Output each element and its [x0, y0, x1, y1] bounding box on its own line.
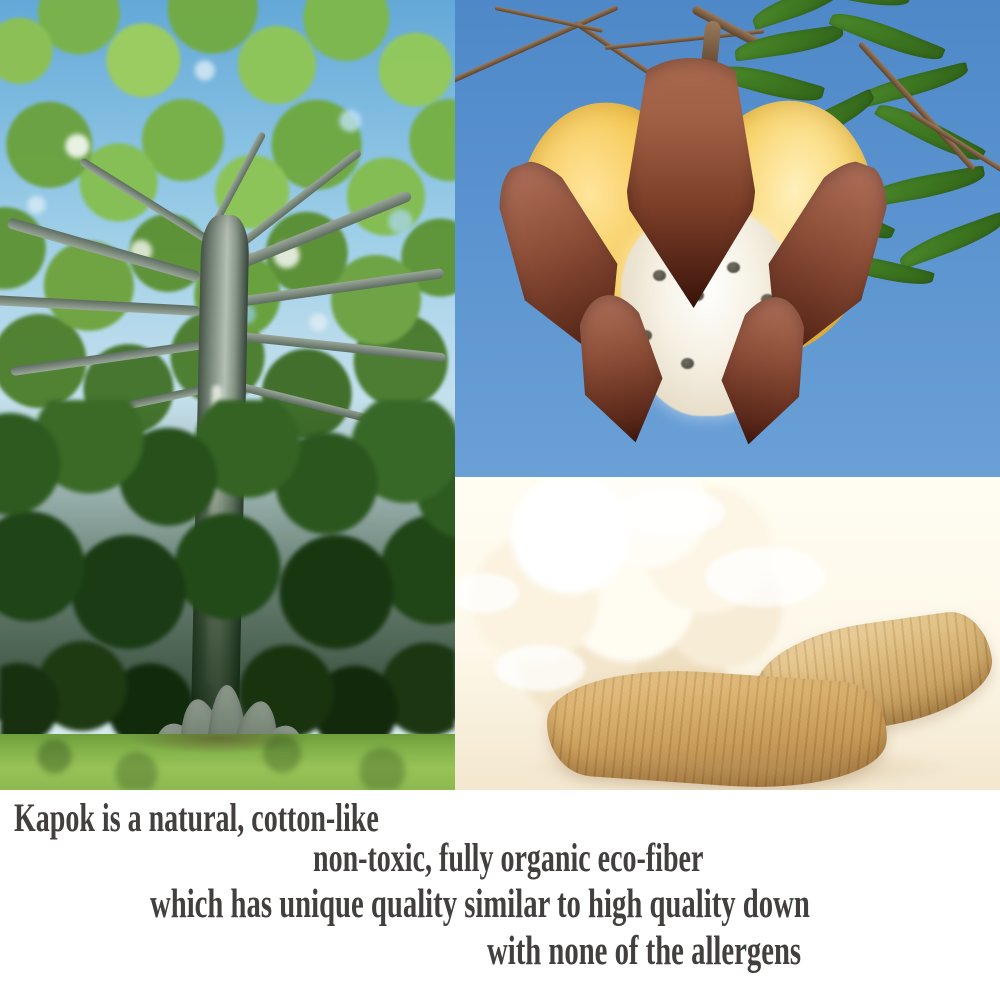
caption-line-3: which has unique quality similar to high…: [150, 883, 810, 924]
leaf: [896, 211, 1000, 269]
drop-shadow: [525, 746, 955, 790]
leaf: [733, 24, 845, 61]
fiber-wisp: [615, 487, 725, 537]
kapok-pod-photo: [455, 0, 1000, 477]
seed: [681, 358, 694, 369]
caption-block: Kapok is a natural, cotton-like non-toxi…: [0, 790, 1000, 1000]
infographic-canvas: Kapok is a natural, cotton-like non-toxi…: [0, 0, 1000, 1000]
kapok-seed-pod: [513, 58, 873, 428]
photo-collage: [0, 0, 1000, 790]
lawn-ground: [0, 734, 455, 790]
caption-line-4: with none of the allergens: [487, 930, 801, 971]
leaf: [874, 96, 986, 169]
fiber-wisp: [495, 645, 585, 691]
kapok-fiber-photo: [455, 477, 1000, 790]
seed: [727, 262, 740, 273]
caption-line-2: non-toxic, fully organic eco-fiber: [313, 838, 703, 878]
seed: [653, 270, 666, 281]
kapok-tree-photo: [0, 0, 455, 790]
branch-twig: [858, 41, 976, 171]
caption-line-1: Kapok is a natural, cotton-like: [14, 798, 379, 838]
fiber-wisp: [705, 547, 825, 607]
